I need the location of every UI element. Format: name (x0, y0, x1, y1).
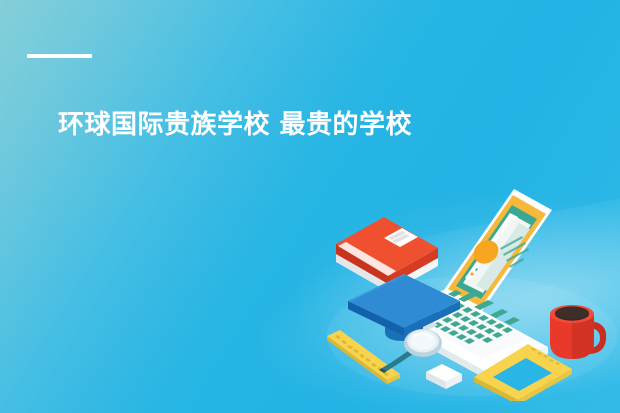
accent-rule (27, 54, 92, 58)
promo-banner: 环球国际贵族学校 最贵的学校 (0, 0, 620, 413)
education-desk-illustration (322, 186, 620, 401)
page-title: 环球国际贵族学校 最贵的学校 (58, 108, 412, 142)
